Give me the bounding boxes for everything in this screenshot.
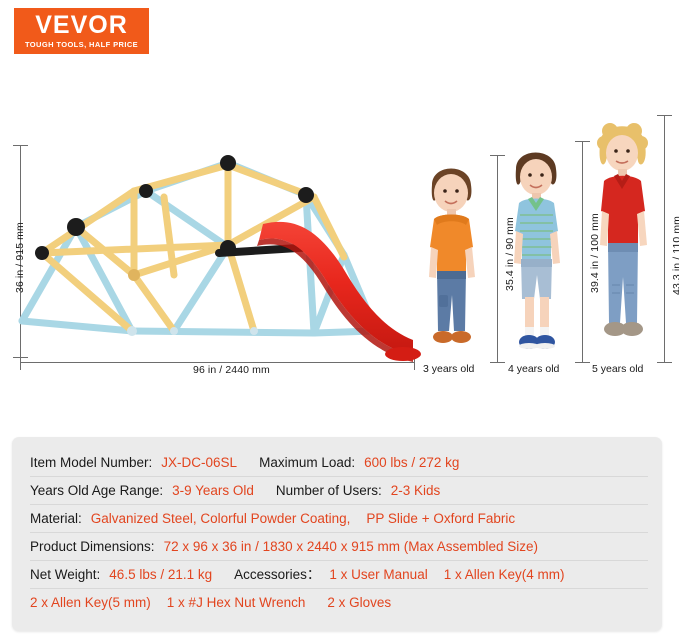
- head: [520, 159, 552, 195]
- child-2-height-line: [582, 141, 583, 363]
- spec-value-material: Galvanized Steel, Colorful Powder Coatin…: [91, 505, 351, 532]
- child-1-height-label: 35.4 in / 90 mm: [504, 217, 516, 291]
- spec-label-net-weight: Net Weight:: [30, 561, 100, 588]
- right-arm: [465, 247, 475, 278]
- child-2-age-label: 4 years old: [508, 363, 559, 375]
- left-leg: [525, 297, 534, 329]
- spec-label-material: Material:: [30, 505, 82, 532]
- child-3-age-label: 5 years old: [592, 363, 643, 375]
- spec-label-model: Item Model Number:: [30, 449, 152, 476]
- right-arm: [637, 211, 647, 246]
- child-3-height-label: 43.3 in / 110 mm: [671, 216, 679, 295]
- spec-value-age-range: 3-9 Years Old: [172, 477, 254, 504]
- spec-value-net-weight: 46.5 lbs / 21.1 kg: [109, 561, 212, 588]
- spec-row-material: Material: Galvanized Steel, Colorful Pow…: [30, 505, 648, 533]
- child-1-height-cap-bottom: [490, 362, 505, 363]
- spec-value-accessory-4: 1 x #J Hex Nut Wrench: [167, 589, 306, 616]
- product-illustration: 36 in / 915 mm 96 in / 2440 mm: [0, 95, 679, 395]
- spec-label-dimensions: Product Dimensions:: [30, 533, 155, 560]
- child-3-height-cap-top: [657, 115, 672, 116]
- pants: [608, 243, 638, 323]
- left-arm: [429, 247, 438, 278]
- spec-label-max-load: Maximum Load:: [259, 449, 355, 476]
- child-2-height-label: 39.4 in / 100 mm: [589, 213, 601, 293]
- child-2-height-cap-top: [575, 141, 590, 142]
- spec-value-max-load: 600 lbs / 272 kg: [364, 449, 459, 476]
- spec-value-accessory-3: 2 x Allen Key(5 mm): [30, 589, 151, 616]
- spec-value-dimensions: 72 x 96 x 36 in / 1830 x 2440 x 915 mm (…: [164, 533, 538, 560]
- spec-value-model: JX-DC-06SL: [161, 449, 237, 476]
- spec-row-net-weight: Net Weight: 46.5 lbs / 21.1 kg Accessori…: [30, 561, 648, 589]
- spec-row-model: Item Model Number: JX-DC-06SL Maximum Lo…: [30, 449, 648, 477]
- spec-value-accessory-2: 1 x Allen Key(4 mm): [444, 561, 565, 588]
- child-1-height-line: [497, 155, 498, 363]
- red-slide: [253, 216, 428, 366]
- vevor-logo: VEVOR TOUGH TOOLS, HALF PRICE: [14, 8, 149, 54]
- spec-value-number-of-users: 2-3 Kids: [391, 477, 441, 504]
- spec-value-accessory-1: 1 x User Manual: [329, 561, 427, 588]
- spec-label-age-range: Years Old Age Range:: [30, 477, 163, 504]
- left-arm: [600, 211, 609, 246]
- brand-name: VEVOR: [35, 13, 128, 38]
- head: [434, 174, 468, 212]
- head: [606, 135, 638, 171]
- spec-row-age-range: Years Old Age Range: 3-9 Years Old Numbe…: [30, 477, 648, 505]
- right-shoe: [451, 331, 471, 343]
- specification-rows: Item Model Number: JX-DC-06SL Maximum Lo…: [30, 449, 648, 616]
- spec-row-accessories-continued: 2 x Allen Key(5 mm) 1 x #J Hex Nut Wrenc…: [30, 589, 648, 616]
- child-1-height-cap-top: [490, 155, 505, 156]
- dome-hub-centers: [128, 269, 140, 281]
- spec-row-dimensions: Product Dimensions: 72 x 96 x 36 in / 18…: [30, 533, 648, 561]
- slide-foot: [385, 347, 421, 361]
- specification-panel: Item Model Number: JX-DC-06SL Maximum Lo…: [12, 437, 662, 631]
- child-2-height-cap-bottom: [575, 362, 590, 363]
- spec-value-accessory-5: 2 x Gloves: [327, 589, 391, 616]
- child-figure-3-years: [418, 155, 484, 363]
- right-leg: [540, 297, 549, 329]
- spec-value-material-2: PP Slide + Oxford Fabric: [366, 505, 515, 532]
- right-shoe: [621, 322, 643, 336]
- spec-label-number-of-users: Number of Users:: [276, 477, 382, 504]
- spec-label-accessories: Accessories：: [234, 561, 320, 588]
- left-shoe: [433, 331, 453, 343]
- child-3-height-line: [664, 115, 665, 363]
- brand-tagline: TOUGH TOOLS, HALF PRICE: [25, 40, 138, 50]
- child-1-age-label: 3 years old: [423, 363, 474, 375]
- child-3-height-cap-bottom: [657, 362, 672, 363]
